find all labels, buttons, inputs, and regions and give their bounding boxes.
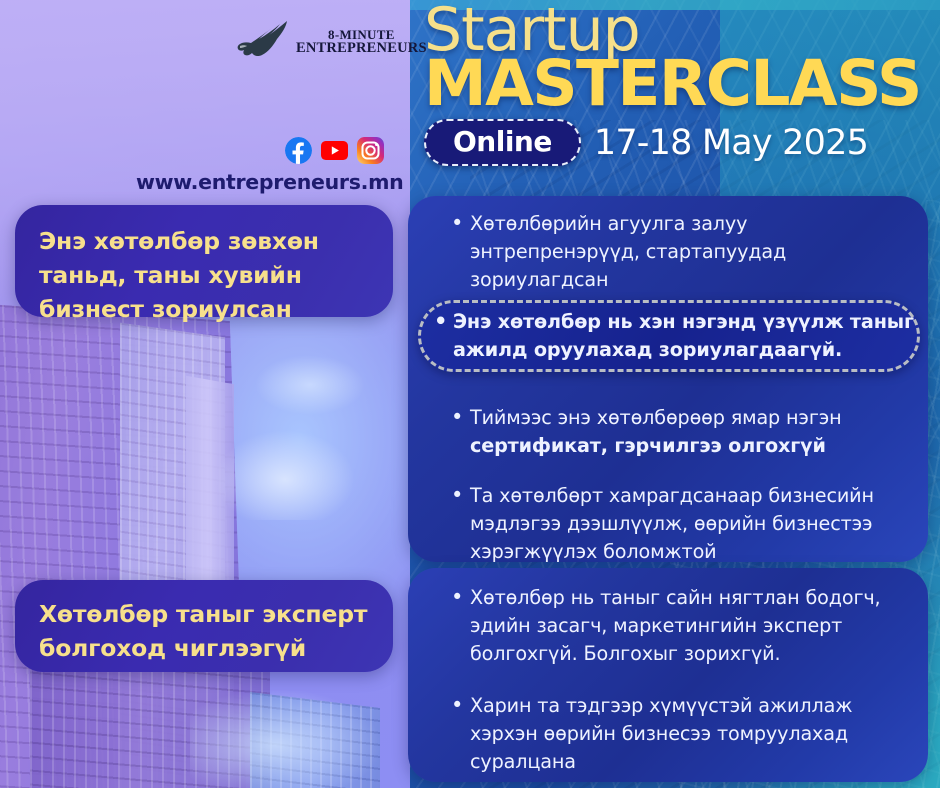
title-line-2: MASTERCLASS	[424, 54, 940, 114]
highlighted-disclaimer-box: Энэ хөтөлбөр нь хэн нэгэнд үзүүлж таныг …	[418, 300, 920, 372]
list-item: Та хөтөлбөрт хамрагдсанаар бизнесийн мэд…	[438, 482, 908, 566]
right-card-primary: Хөтөлбөрийн агуулга залуу энтрепренэрүүд…	[408, 196, 928, 562]
facebook-icon[interactable]	[285, 137, 312, 164]
bullet-list-no-expert: Хөтөлбөр нь таныг сайн нягтлан бодогч, э…	[438, 584, 908, 668]
event-date: 17-18 May 2025	[594, 123, 868, 163]
list-item: Харин та тэдгээр хүмүүстэй ажиллаж хэрхэ…	[438, 692, 908, 776]
poster-canvas: 8-MINUTE ENTREPRENEURS	[0, 0, 940, 788]
cloud-shape-2	[255, 355, 365, 415]
list-item: Хөтөлбөрийн агуулга залуу энтрепренэрүүд…	[438, 210, 898, 294]
bullet-list-top: Хөтөлбөрийн агуулга залуу энтрепренэрүүд…	[438, 210, 898, 294]
list-item: Хөтөлбөр нь таныг сайн нягтлан бодогч, э…	[438, 584, 908, 668]
headline-block: Startup MASTERCLASS Online 17-18 May 202…	[424, 2, 940, 166]
online-badge: Online	[424, 119, 581, 166]
brand-logo: 8-MINUTE ENTREPRENEURS	[237, 10, 402, 74]
bullet-list-benefit: Та хөтөлбөрт хамрагдсанаар бизнесийн мэд…	[438, 482, 908, 566]
website-url[interactable]: www.entrepreneurs.mn	[136, 170, 403, 194]
bullet-list-learn: Харин та тэдгээр хүмүүстэй ажиллаж хэрхэ…	[438, 692, 908, 776]
bullet-list-certificate: Тиймээс энэ хөтөлбөрөөр ямар нэгэн серти…	[438, 404, 908, 460]
eagle-wing-logo-icon	[237, 20, 289, 64]
bullet-text-normal: Тиймээс энэ хөтөлбөрөөр ямар нэгэн	[470, 406, 842, 429]
bullet-list-highlight: Энэ хөтөлбөр нь хэн нэгэнд үзүүлж таныг …	[421, 308, 917, 364]
card-audience-text: Энэ хөтөлбөр зөвхөн таньд, таны хувийн б…	[39, 225, 393, 326]
card-not-expert-text: Хөтөлбөр таныг эксперт болгоход чиглээгү…	[39, 598, 393, 666]
social-links	[285, 137, 384, 164]
cloud-shape-3	[190, 690, 380, 788]
logo-line-1: 8-MINUTE	[296, 28, 427, 42]
headline-meta-row: Online 17-18 May 2025	[424, 119, 940, 166]
list-item: Энэ хөтөлбөр нь хэн нэгэнд үзүүлж таныг …	[421, 308, 917, 364]
logo-wordmark: 8-MINUTE ENTREPRENEURS	[296, 28, 427, 57]
list-item: Тиймээс энэ хөтөлбөрөөр ямар нэгэн серти…	[438, 404, 908, 460]
logo-line-2: ENTREPRENEURS	[296, 41, 427, 56]
cloud-shape-1	[215, 430, 355, 520]
card-audience: Энэ хөтөлбөр зөвхөн таньд, таны хувийн б…	[15, 205, 393, 317]
card-not-expert: Хөтөлбөр таныг эксперт болгоход чиглээгү…	[15, 580, 393, 672]
instagram-icon[interactable]	[357, 137, 384, 164]
bullet-text-bold: сертификат, гэрчилгээ олгохгүй	[470, 434, 826, 457]
youtube-icon[interactable]	[321, 137, 348, 164]
right-card-secondary: Хөтөлбөр нь таныг сайн нягтлан бодогч, э…	[408, 568, 928, 782]
